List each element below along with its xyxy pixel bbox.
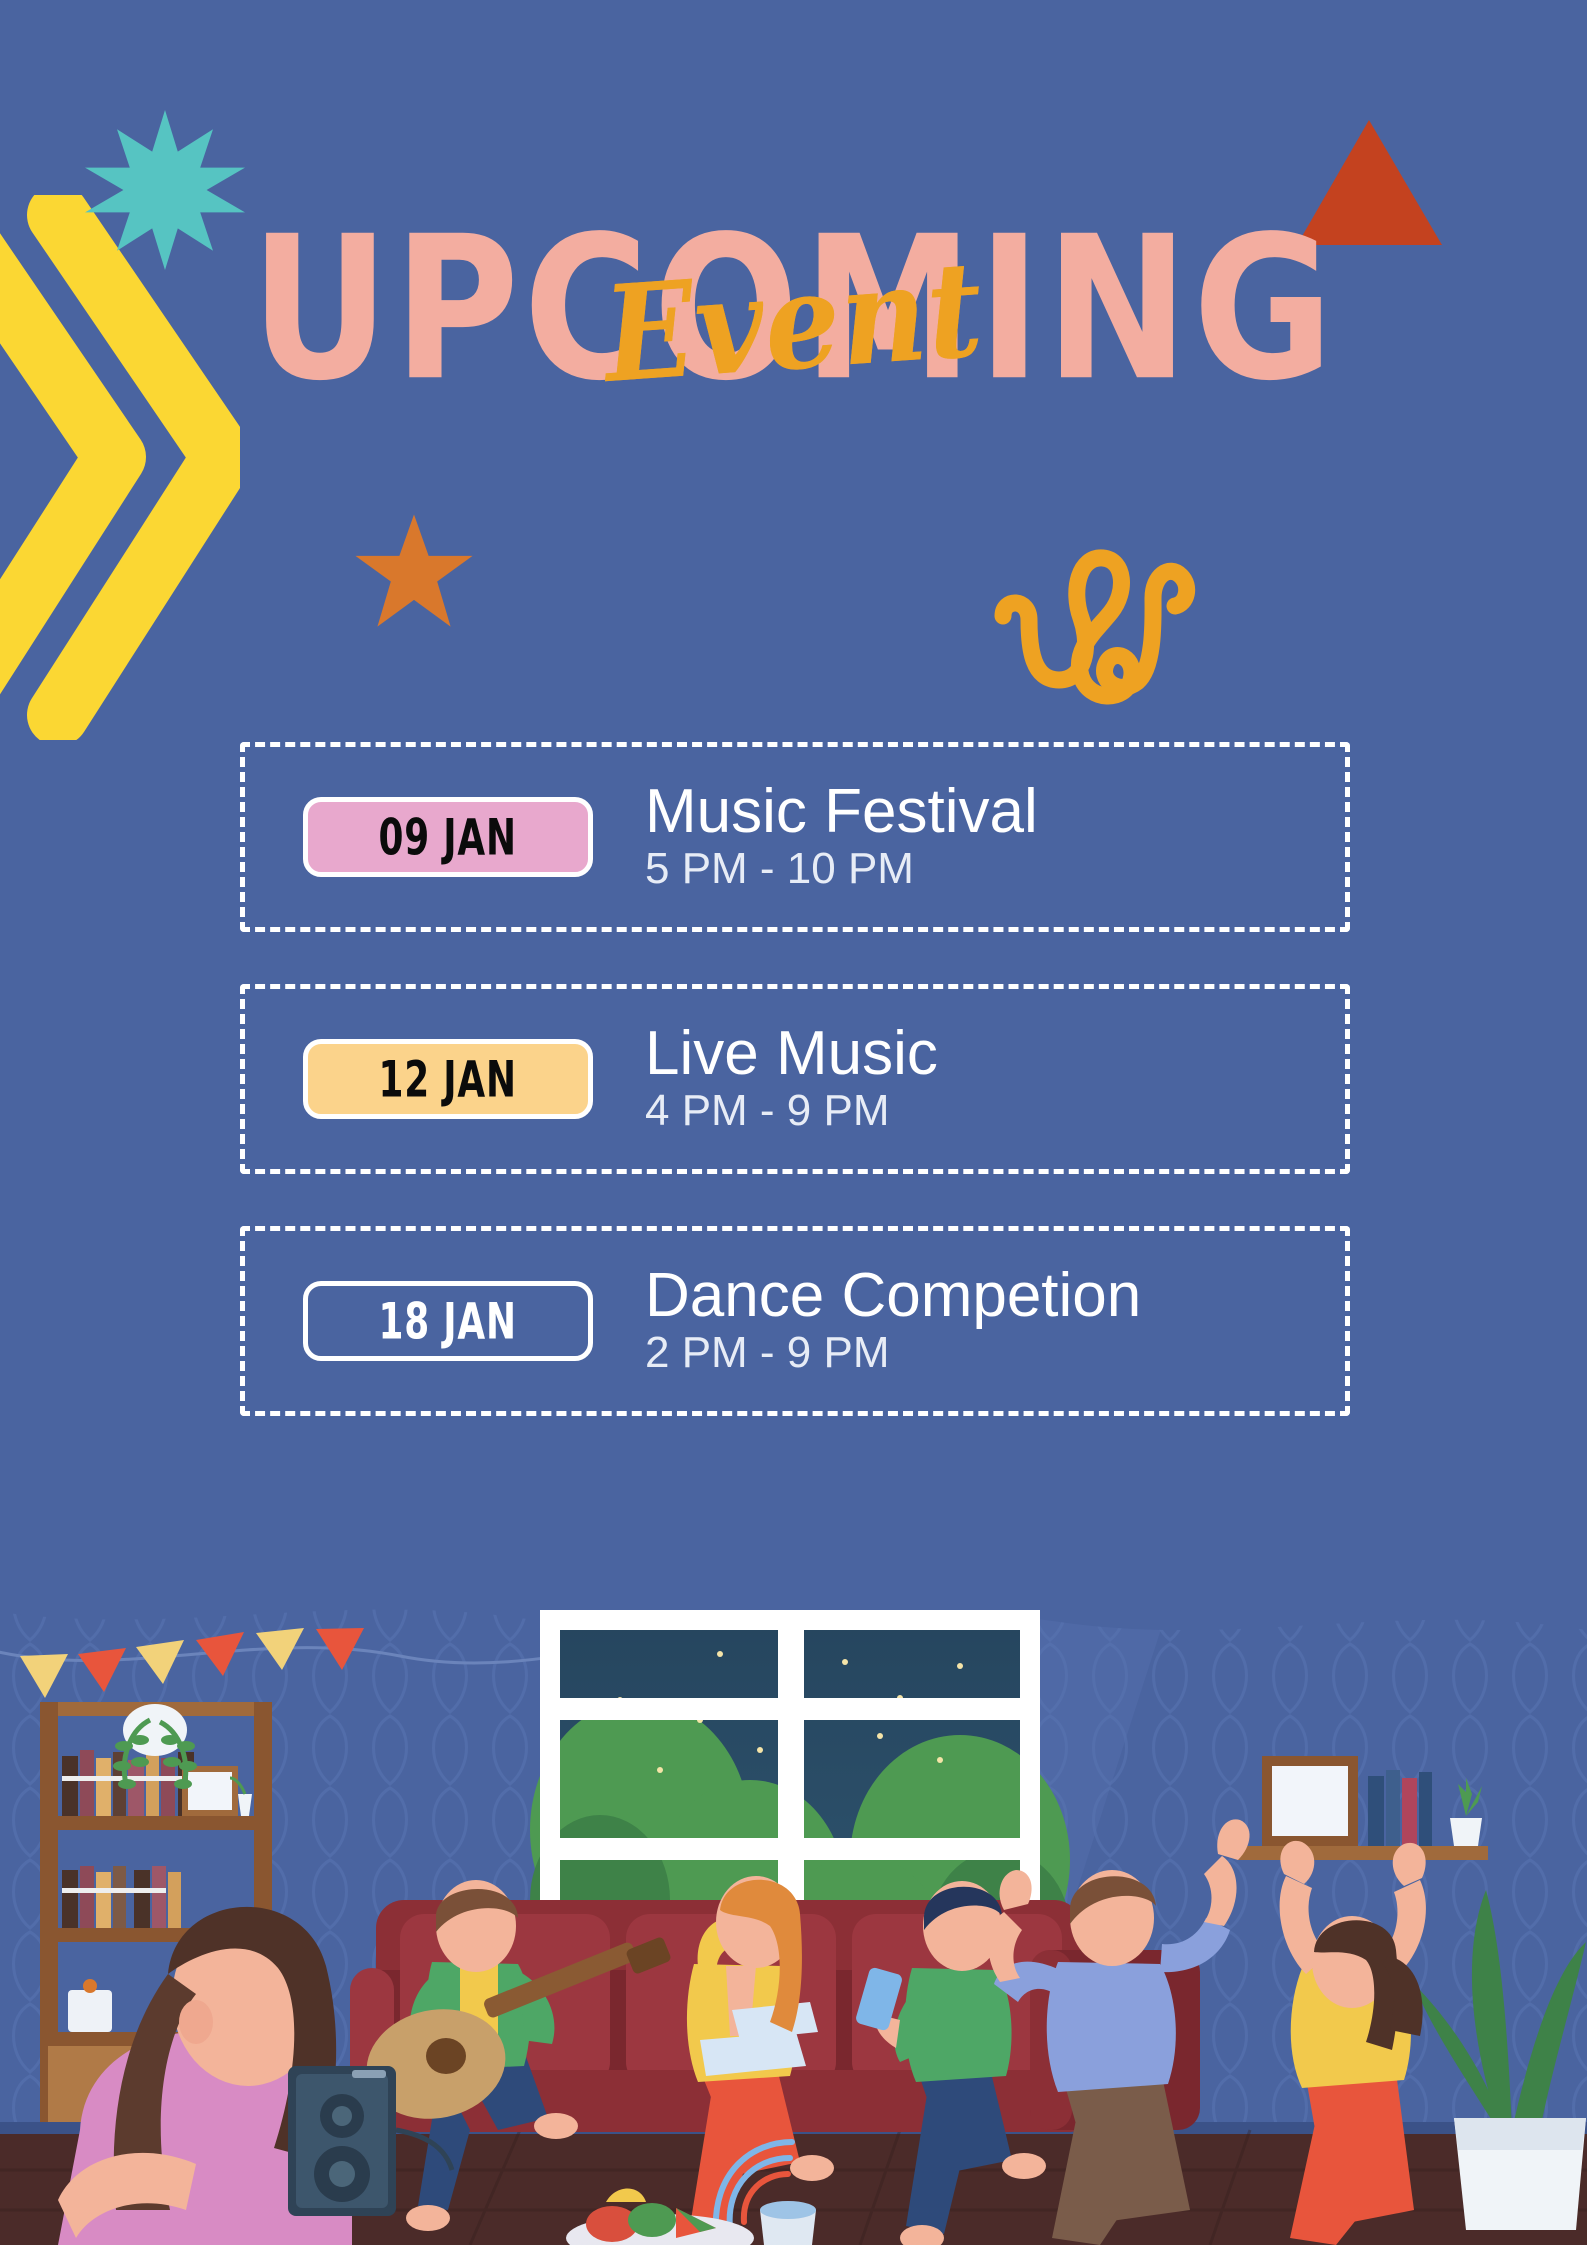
- living-room-party-illustration: [0, 1570, 1587, 2245]
- event-time: 2 PM - 9 PM: [645, 1329, 1141, 1377]
- event-date-label: 12 JAN: [379, 1050, 517, 1108]
- event-title: Dance Competion: [645, 1264, 1141, 1327]
- event-time: 5 PM - 10 PM: [645, 845, 1038, 893]
- event-card[interactable]: 09 JAN Music Festival 5 PM - 10 PM: [240, 742, 1350, 932]
- event-date-badge: 09 JAN: [303, 797, 593, 877]
- event-date-label: 18 JAN: [379, 1292, 517, 1350]
- starburst-decor: [85, 110, 245, 275]
- event-date-label: 09 JAN: [379, 808, 517, 866]
- squiggle-doodle: [985, 520, 1205, 725]
- event-date-badge: 18 JAN: [303, 1281, 593, 1361]
- event-text-block: Dance Competion 2 PM - 9 PM: [645, 1264, 1141, 1378]
- event-card[interactable]: 12 JAN Live Music 4 PM - 9 PM: [240, 984, 1350, 1174]
- event-time: 4 PM - 9 PM: [645, 1087, 938, 1135]
- event-date-badge: 12 JAN: [303, 1039, 593, 1119]
- event-title: Live Music: [645, 1022, 938, 1085]
- star-decor: [353, 512, 475, 639]
- event-card[interactable]: 18 JAN Dance Competion 2 PM - 9 PM: [240, 1226, 1350, 1416]
- event-list: 09 JAN Music Festival 5 PM - 10 PM 12 JA…: [240, 742, 1350, 1468]
- event-text-block: Live Music 4 PM - 9 PM: [645, 1022, 938, 1136]
- event-title: Music Festival: [645, 780, 1038, 843]
- event-text-block: Music Festival 5 PM - 10 PM: [645, 780, 1038, 894]
- poster-canvas: UPCOMING Event 09 JAN Music Festival 5 P…: [0, 0, 1587, 2245]
